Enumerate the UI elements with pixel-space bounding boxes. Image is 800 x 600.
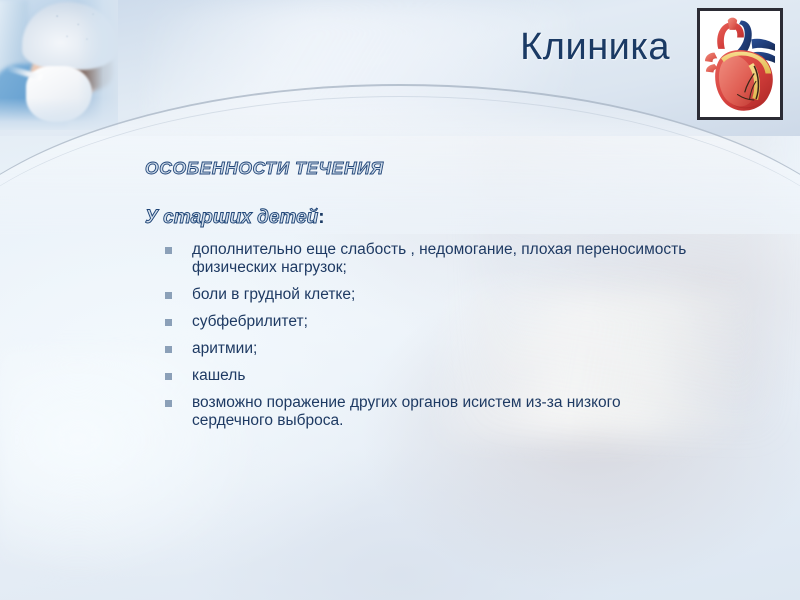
list-item: возможно поражение других органов исисте… <box>162 394 692 430</box>
surgeon-photo <box>0 0 118 130</box>
slide-content: ОСОБЕННОСТИ ТЕЧЕНИЯ У старших детей: доп… <box>140 158 740 439</box>
sub-heading: У старших детей: <box>145 207 740 229</box>
list-item: аритмии; <box>162 340 692 358</box>
sub-heading-text: У старших детей <box>145 207 318 228</box>
list-item: кашель <box>162 367 692 385</box>
list-item: субфебрилитет; <box>162 313 692 331</box>
heart-image-frame <box>697 8 783 120</box>
page-title: Клиника <box>520 26 670 68</box>
photo-fade-bottom <box>0 98 118 130</box>
anatomical-heart-icon <box>700 11 780 117</box>
list-item: боли в грудной клетке; <box>162 286 692 304</box>
symptom-list: дополнительно еще слабость , недомогание… <box>140 241 740 430</box>
list-item: дополнительно еще слабость , недомогание… <box>162 241 692 277</box>
sub-heading-colon: : <box>318 207 324 228</box>
section-heading: ОСОБЕННОСТИ ТЕЧЕНИЯ <box>145 158 740 179</box>
presentation-slide: Клиника <box>0 0 800 600</box>
